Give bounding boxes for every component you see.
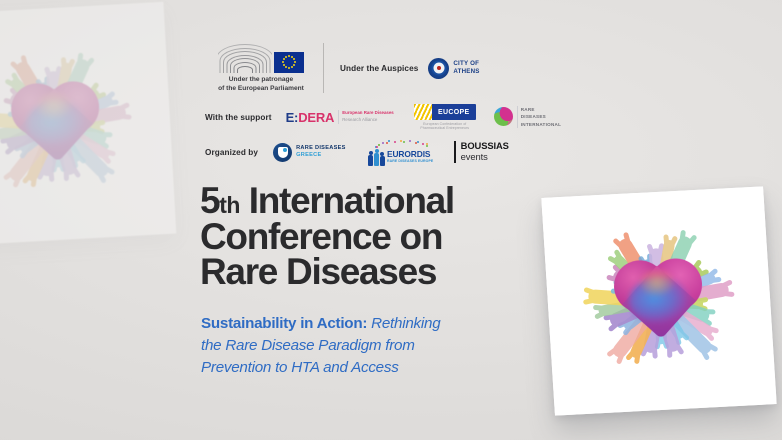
edera-tagline: European Rare Diseases Research Alliance bbox=[338, 110, 394, 123]
page-title: 5th International Conference on Rare Dis… bbox=[200, 183, 545, 290]
edera-logo: E:DERA European Rare Diseases Research A… bbox=[286, 110, 394, 125]
subtitle-italic-1: Rethinking bbox=[367, 315, 440, 332]
title-ordinal-suffix: th bbox=[219, 192, 240, 218]
eucope-hatch-icon bbox=[414, 104, 432, 120]
rdg-line-1: RARE DISEASES bbox=[296, 145, 346, 152]
athens-emblem-icon bbox=[428, 58, 449, 79]
eurordis-confetti-icon bbox=[368, 139, 434, 149]
page-subtitle: Sustainability in Action: Rethinking the… bbox=[201, 313, 531, 379]
eucope-tagline: European Confederation of Pharmaceutical… bbox=[414, 122, 476, 130]
organizers-row: Organized by RARE DISEASES GREECE EURORD… bbox=[205, 136, 545, 168]
sponsor-logo-block: Under the patronage of the European Parl… bbox=[205, 38, 545, 168]
organized-label: Organized by bbox=[205, 148, 258, 157]
subtitle-italic-2: the Rare Disease Paradigm from bbox=[201, 337, 415, 354]
eucope-logo: EUCOPE European Confederation of Pharmac… bbox=[414, 104, 476, 130]
edera-tagline-1: European Rare Diseases bbox=[342, 110, 394, 115]
patronage-row: Under the patronage of the European Parl… bbox=[205, 38, 545, 98]
patronage-line-1: Under the patronage bbox=[229, 76, 293, 83]
support-row: With the support E:DERA European Rare Di… bbox=[205, 100, 545, 134]
rdg-circle-icon bbox=[273, 143, 292, 162]
eucope-wordmark: EUCOPE bbox=[432, 109, 476, 116]
rare-diseases-international-logo: RARE DISEASES INTERNATIONAL bbox=[494, 106, 561, 127]
edera-letters-dera: DERA bbox=[298, 110, 334, 125]
athens-logo-text: CITY OF ATHENS bbox=[453, 60, 479, 76]
hemicycle-icon bbox=[218, 43, 272, 73]
rdi-wordmark: RARE DISEASES INTERNATIONAL bbox=[517, 106, 561, 127]
patronage-caption: Under the patronage of the European Parl… bbox=[218, 76, 304, 94]
eurordis-logo: EURORDIS RARE DISEASES EUROPE bbox=[368, 139, 434, 166]
boussias-events-word: events bbox=[461, 152, 509, 163]
rdg-line-2: GREECE bbox=[296, 152, 346, 159]
eucope-badge: EUCOPE bbox=[414, 104, 476, 120]
hero-framed-artwork bbox=[541, 186, 776, 415]
eurordis-tagline: RARE DISEASES EUROPE bbox=[387, 160, 433, 164]
rdi-line-2: DISEASES bbox=[521, 113, 561, 120]
eurordis-wordmark: EURORDIS RARE DISEASES EUROPE bbox=[387, 150, 433, 163]
rdi-line-3: INTERNATIONAL bbox=[521, 121, 561, 128]
athens-line-1: CITY OF bbox=[453, 60, 479, 68]
eu-flag-icon bbox=[274, 52, 304, 73]
title-line-1: 5th International bbox=[200, 183, 545, 219]
subtitle-bold-part: Sustainability in Action: bbox=[201, 315, 367, 332]
auspices-label: Under the Auspices bbox=[340, 64, 418, 73]
title-line-2: Conference on bbox=[200, 219, 545, 255]
poster-canvas: Under the patronage of the European Parl… bbox=[0, 0, 782, 440]
rare-diseases-greece-logo: RARE DISEASES GREECE bbox=[273, 143, 346, 162]
rdg-wordmark: RARE DISEASES GREECE bbox=[296, 145, 346, 159]
european-parliament-logo: Under the patronage of the European Parl… bbox=[205, 43, 317, 94]
title-line-1-text: International bbox=[249, 180, 454, 221]
eurordis-people-icon bbox=[368, 149, 385, 166]
edera-letter-e: E bbox=[286, 110, 294, 125]
eurordis-body: EURORDIS RARE DISEASES EUROPE bbox=[368, 149, 433, 166]
boussias-events-logo: BOUSSIAS events bbox=[454, 141, 509, 163]
rdi-line-1: RARE bbox=[521, 106, 561, 113]
rdi-gradient-circle-icon bbox=[494, 107, 513, 126]
vertical-divider bbox=[323, 43, 324, 93]
title-line-3: Rare Diseases bbox=[200, 254, 545, 290]
athens-line-2: ATHENS bbox=[453, 68, 479, 76]
title-ordinal-number: 5 bbox=[200, 180, 219, 221]
edera-wordmark: E:DERA bbox=[286, 110, 335, 125]
edera-tagline-2: Research Alliance bbox=[342, 117, 377, 122]
subtitle-italic-3: Prevention to HTA and Access bbox=[201, 359, 399, 376]
hands-heart-artwork-left bbox=[0, 2, 176, 246]
european-parliament-mark bbox=[218, 43, 304, 73]
hands-heart-artwork-right bbox=[541, 186, 776, 415]
support-label: With the support bbox=[205, 113, 272, 122]
patronage-line-2: of the European Parliament bbox=[218, 85, 304, 92]
background-framed-artwork bbox=[0, 2, 176, 246]
city-of-athens-logo: CITY OF ATHENS bbox=[428, 58, 479, 79]
